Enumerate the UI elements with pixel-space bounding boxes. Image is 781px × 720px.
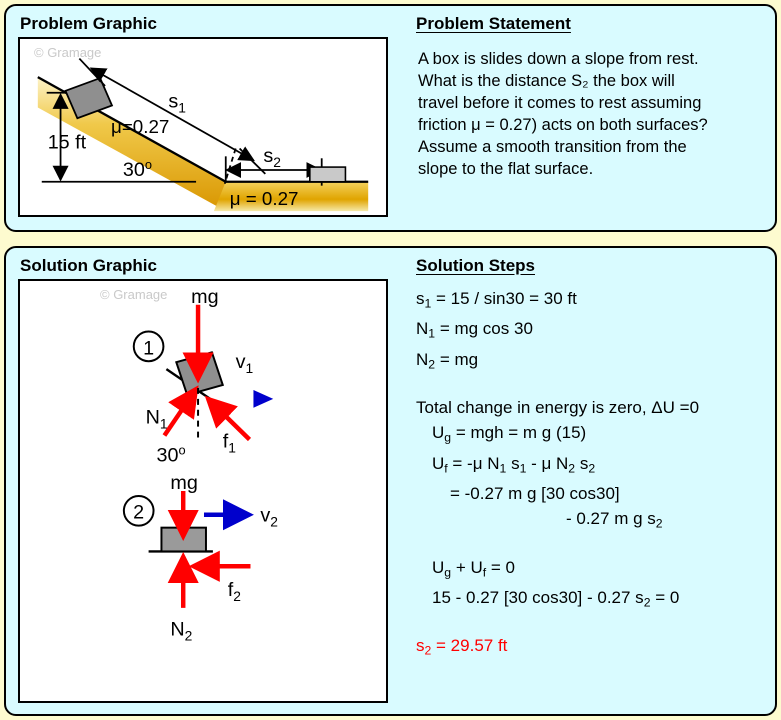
problem-statement-section: Problem Statement A box is slides down a…: [402, 6, 775, 230]
height-label: 15 ft: [48, 132, 87, 154]
problem-statement-title: Problem Statement: [416, 14, 571, 34]
fbd1-velocity-label: v1: [236, 351, 254, 376]
solution-panel: Solution Graphic 1: [4, 246, 777, 716]
problem-statement-line: Assume a smooth transition from the: [418, 136, 778, 158]
solution-step-n1-value: N1 = mg cos 30: [416, 316, 781, 346]
problem-statement-line: travel before it comes to rest assuming: [418, 92, 778, 114]
solution-step-uf-eval-1: = -0.27 m g [30 cos30]: [416, 481, 781, 506]
problem-graphic-title: Problem Graphic: [20, 14, 157, 34]
problem-statement-text: A box is slides down a slope from rest.W…: [418, 48, 778, 180]
problem-statement-line: friction μ = 0.27) acts on both surfaces…: [418, 114, 778, 136]
solution-steps-section: Solution Steps s1 = 15 / sin30 = 30 ftN1…: [402, 248, 775, 714]
fbd1-velocity-arrow: [253, 390, 273, 408]
fbd2-velocity-label: v2: [260, 505, 278, 530]
mu-flat-label: μ = 0.27: [230, 188, 299, 209]
solution-step-sum-eq: Ug + Uf = 0: [416, 555, 781, 585]
solution-step-n2-value: N2 = mg: [416, 347, 781, 377]
fbd2-normal-label: N2: [170, 619, 192, 644]
fbd1-weight-label: mg: [191, 286, 218, 308]
block-on-flat: [310, 167, 346, 182]
fbd-2: 2 mg N2 f2: [124, 472, 278, 644]
solution-step-s1-value: s1 = 15 / sin30 = 30 ft: [416, 286, 781, 316]
fbd2-friction-label: f2: [228, 579, 241, 604]
solution-graphic-title: Solution Graphic: [20, 256, 157, 276]
solution-graphic-canvas: 1 mg N1 f1: [18, 279, 388, 703]
solution-graphic-section: Solution Graphic 1: [6, 248, 402, 714]
solution-step-final-answer: s2 = 29.57 ft: [416, 633, 781, 663]
solution-step-uf-eval-2: - 0.27 m g s2: [416, 506, 781, 536]
problem-statement-line: slope to the flat surface.: [418, 158, 778, 180]
problem-diagram: 15 ft 30o s1 μ=0.27: [20, 39, 386, 215]
problem-graphic-section: Problem Graphic: [6, 6, 402, 230]
fbd1-friction-arrow: [208, 399, 250, 440]
solution-step-numeric-eq: 15 - 0.27 [30 cos30] - 0.27 s2 = 0: [416, 585, 781, 615]
watermark: © Gramage: [100, 287, 167, 302]
worksheet-page: Problem Graphic: [0, 0, 781, 720]
s1-label: s1: [168, 91, 186, 116]
fbd1-normal-arrow: [164, 389, 196, 436]
fbd2-number: 2: [133, 502, 144, 524]
solution-steps-list: s1 = 15 / sin30 = 30 ftN1 = mg cos 30N2 …: [416, 286, 781, 664]
watermark: © Gramage: [34, 45, 101, 60]
mu-slope-label: μ=0.27: [111, 116, 169, 137]
solution-step-gap-2: [416, 537, 781, 555]
solution-step-gap-3: [416, 615, 781, 633]
fbd1-angle-label: 30o: [157, 442, 186, 466]
problem-panel: Problem Graphic: [4, 4, 777, 232]
solution-steps-title: Solution Steps: [416, 256, 535, 276]
solution-step-uf-eq: Uf = -μ N1 s1 - μ N2 s2: [416, 451, 781, 481]
fbd-1: 1 mg N1 f1: [134, 286, 273, 467]
s2-label: s2: [263, 145, 281, 170]
fbd1-number: 1: [143, 337, 154, 359]
fbd1-friction-label: f1: [223, 430, 236, 455]
solution-step-ug-eq: Ug = mgh = m g (15): [416, 420, 781, 450]
angle-label: 30o: [123, 157, 152, 181]
free-body-diagrams: 1 mg N1 f1: [20, 281, 386, 701]
problem-graphic-canvas: 15 ft 30o s1 μ=0.27: [18, 37, 388, 217]
problem-statement-line: What is the distance S₂ the box will: [418, 70, 778, 92]
problem-statement-line: A box is slides down a slope from rest.: [418, 48, 778, 70]
fbd1-normal-label: N1: [146, 407, 168, 432]
solution-step-energy-note: Total change in energy is zero, ΔU =0: [416, 395, 781, 420]
fbd2-weight-label: mg: [170, 472, 197, 494]
solution-step-gap-1: [416, 377, 781, 395]
